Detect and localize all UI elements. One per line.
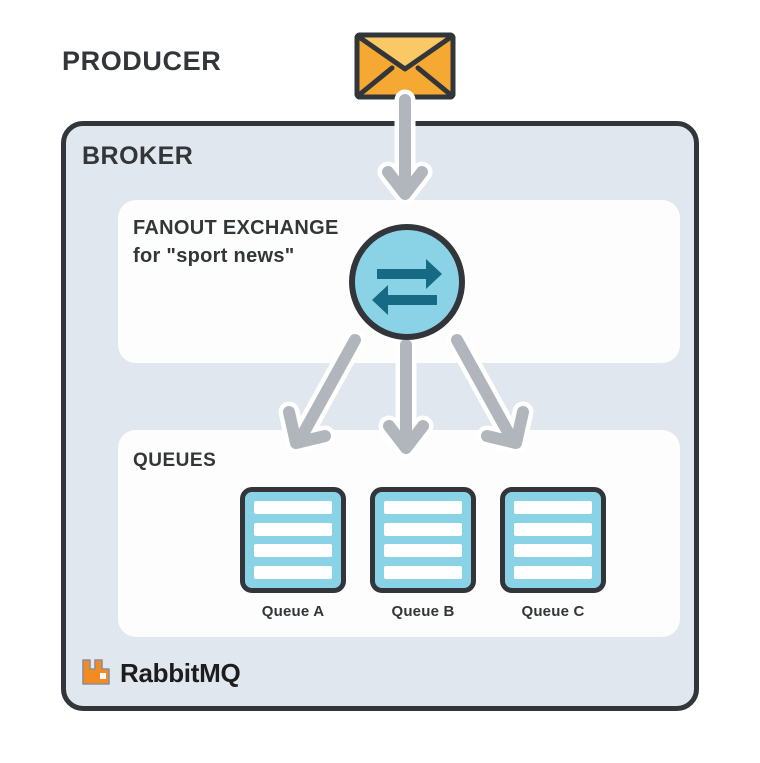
queue-message-bar xyxy=(254,566,332,579)
exchange-subtitle: for "sport news" xyxy=(133,245,295,268)
queue-message-bar xyxy=(514,566,592,579)
queue-label: Queue B xyxy=(370,603,476,620)
queue-item[interactable]: Queue B xyxy=(370,487,476,620)
broker-label: BROKER xyxy=(82,142,193,171)
rabbitmq-logo: RabbitMQ xyxy=(82,656,240,691)
queue-message-bar xyxy=(384,523,462,536)
queue-box[interactable] xyxy=(240,487,346,593)
diagram-canvas: PRODUCER BROKER FANOUT EXCHANGE for "spo… xyxy=(0,0,760,763)
exchange-swap-arrows-icon xyxy=(348,223,466,341)
queue-message-bar xyxy=(254,544,332,557)
envelope-icon xyxy=(354,32,456,100)
queue-message-bar xyxy=(254,501,332,514)
rabbitmq-logo-icon xyxy=(82,656,111,691)
queue-message-bar xyxy=(384,501,462,514)
queue-box[interactable] xyxy=(500,487,606,593)
queue-item[interactable]: Queue C xyxy=(500,487,606,620)
rabbitmq-wordmark: RabbitMQ xyxy=(120,658,240,689)
queue-box[interactable] xyxy=(370,487,476,593)
queue-item[interactable]: Queue A xyxy=(240,487,346,620)
queue-message-bar xyxy=(254,523,332,536)
queue-message-bar xyxy=(514,501,592,514)
queue-label: Queue A xyxy=(240,603,346,620)
queue-label: Queue C xyxy=(500,603,606,620)
queue-message-bar xyxy=(384,544,462,557)
queue-message-bar xyxy=(384,566,462,579)
queue-message-bar xyxy=(514,523,592,536)
queue-message-bar xyxy=(514,544,592,557)
producer-label: PRODUCER xyxy=(62,46,221,77)
queues-section-label: QUEUES xyxy=(133,450,216,472)
exchange-title: FANOUT EXCHANGE xyxy=(133,215,339,241)
